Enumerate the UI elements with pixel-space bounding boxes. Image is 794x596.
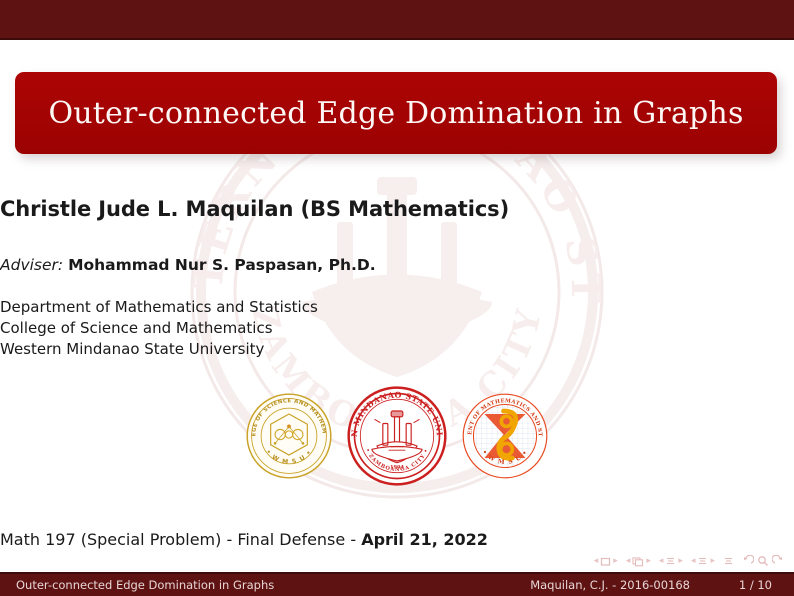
previous-arrow-icon[interactable]: ◂ bbox=[626, 557, 631, 566]
affiliation-block: Department of Mathematics and Statistics… bbox=[0, 297, 794, 360]
previous-subsection-icon[interactable] bbox=[665, 556, 676, 567]
event-date: April 21, 2022 bbox=[361, 530, 488, 549]
frame-navigation-group[interactable]: ◂ ▸ bbox=[626, 556, 651, 567]
page-title: Outer-connected Edge Domination in Graph… bbox=[48, 96, 743, 131]
first-slide-icon[interactable] bbox=[600, 556, 611, 567]
author-name: Christle Jude L. Maquilan (BS Mathematic… bbox=[0, 197, 794, 221]
history-navigation-group[interactable] bbox=[742, 555, 784, 567]
previous-section-icon[interactable] bbox=[697, 556, 708, 567]
presentation-slide: WESTERN MINDANAO STATE ZAMBOANGA CITY In… bbox=[0, 0, 794, 596]
document-navigation-group[interactable] bbox=[723, 556, 734, 567]
beamer-navigation-symbols[interactable]: ◂ ▸ ◂ ▸ ◂ ▸ ◂ ▸ bbox=[594, 552, 784, 570]
adviser-label: Adviser: bbox=[0, 256, 63, 274]
adviser-name: Mohammad Nur S. Paspasan, Ph.D. bbox=[68, 256, 376, 274]
department-of-mathematics-and-statistics-seal-icon: DEPARTMENT OF MATHEMATICS AND STATISTICS… bbox=[461, 392, 549, 480]
next-arrow-icon[interactable]: ▸ bbox=[710, 557, 715, 566]
next-arrow-icon[interactable]: ▸ bbox=[678, 557, 683, 566]
slide-footer: Outer-connected Edge Domination in Graph… bbox=[0, 574, 794, 596]
forward-icon[interactable] bbox=[772, 555, 784, 567]
footer-title: Outer-connected Edge Domination in Graph… bbox=[16, 578, 274, 592]
next-arrow-icon[interactable]: ▸ bbox=[646, 557, 651, 566]
beamer-navigation-bar bbox=[0, 0, 794, 38]
event-line: Math 197 (Special Problem) - Final Defen… bbox=[0, 530, 794, 549]
whole-document-icon[interactable] bbox=[723, 556, 734, 567]
subsection-navigation-group[interactable]: ◂ ▸ bbox=[659, 556, 683, 567]
title-box: Outer-connected Edge Domination in Graph… bbox=[15, 72, 777, 154]
search-icon[interactable] bbox=[757, 555, 769, 567]
western-mindanao-state-university-seal-icon: WESTERN MINDANAO STATE UNIVERSITY • ZAMB… bbox=[347, 386, 447, 486]
footer-author: Maquilan, C.J. - 2016-00168 bbox=[530, 578, 690, 592]
svg-text:1904: 1904 bbox=[390, 465, 404, 471]
previous-frame-icon[interactable] bbox=[632, 556, 644, 567]
previous-arrow-icon[interactable]: ◂ bbox=[659, 557, 664, 566]
adviser-line: Adviser: Mohammad Nur S. Paspasan, Ph.D. bbox=[0, 256, 794, 274]
affiliation-line-university: Western Mindanao State University bbox=[0, 339, 794, 360]
slide-navigation-group[interactable]: ◂ ▸ bbox=[594, 556, 618, 567]
footer-page-number: 1 / 10 bbox=[739, 578, 772, 592]
previous-arrow-icon[interactable]: ◂ bbox=[594, 557, 599, 566]
section-navigation-group[interactable]: ◂ ▸ bbox=[691, 556, 715, 567]
next-arrow-icon[interactable]: ▸ bbox=[613, 557, 618, 566]
back-icon[interactable] bbox=[742, 555, 754, 567]
institution-logos: COLLEGE OF SCIENCE AND MATHEMATICS • W M… bbox=[0, 386, 794, 486]
previous-arrow-icon[interactable]: ◂ bbox=[691, 557, 696, 566]
navbar-underline bbox=[0, 38, 794, 40]
event-course: Math 197 (Special Problem) - Final Defen… bbox=[0, 530, 361, 549]
affiliation-line-college: College of Science and Mathematics bbox=[0, 318, 794, 339]
affiliation-line-department: Department of Mathematics and Statistics bbox=[0, 297, 794, 318]
college-of-science-and-mathematics-seal-icon: COLLEGE OF SCIENCE AND MATHEMATICS • W M… bbox=[245, 392, 333, 480]
